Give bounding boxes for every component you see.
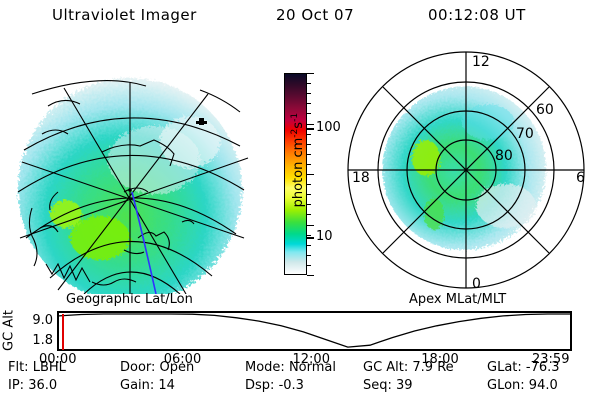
- status-value: 94.0: [529, 378, 558, 393]
- status-label: IP:: [8, 378, 28, 393]
- strip-plot-box[interactable]: [57, 311, 572, 351]
- status-value: -0.3: [279, 378, 304, 393]
- status-label: Seq:: [363, 378, 396, 393]
- mlt-spokes: [348, 52, 584, 288]
- status-field: Flt: LBHL: [8, 360, 66, 375]
- altitude-trace: [59, 313, 570, 349]
- status-label: GC Alt:: [363, 360, 412, 375]
- status-label: Flt:: [8, 360, 33, 375]
- mlat-label-60: 60: [536, 102, 554, 118]
- ytick-high: 9.0: [19, 313, 53, 328]
- status-label: Dsp:: [245, 378, 279, 393]
- status-label: GLon:: [487, 378, 529, 393]
- mlt-label-12: 12: [472, 54, 490, 70]
- geographic-image: [4, 42, 262, 294]
- gcalt-axis-label: GC Alt: [2, 305, 17, 357]
- status-field: Door: Open: [120, 360, 194, 375]
- status-value: 39: [396, 378, 413, 393]
- status-field: Mode: Normal: [245, 360, 336, 375]
- colorbar-axis-label: photon cm-2s-1: [290, 72, 306, 248]
- status-field: Seq: 39: [363, 378, 413, 393]
- altitude-strip-chart[interactable]: GC Alt 9.0 1.8 00:0006:0012:0018:0023:59: [0, 306, 600, 358]
- status-value: -76.3: [526, 360, 560, 375]
- status-value: 36.0: [28, 378, 57, 393]
- header: Ultraviolet Imager 20 Oct 07 00:12:08 UT: [0, 6, 600, 30]
- colorbar-ticks: [307, 73, 315, 275]
- cb-label-main: photon cm: [291, 138, 306, 208]
- status-field: GLon: 94.0: [487, 378, 558, 393]
- mlt-label-18: 18: [352, 170, 370, 186]
- status-field: GLat: -76.3: [487, 360, 560, 375]
- status-label: Mode:: [245, 360, 289, 375]
- mlat-label-80: 80: [495, 148, 513, 164]
- ytick-low: 1.8: [19, 333, 53, 348]
- cb-label-exp1: -2: [290, 129, 300, 138]
- mlt-label-0: 0: [472, 276, 481, 292]
- status-field: Gain: 14: [120, 378, 175, 393]
- cb-label-mid: s: [291, 122, 306, 129]
- geographic-caption: Geographic Lat/Lon: [66, 292, 193, 307]
- status-field: Dsp: -0.3: [245, 378, 304, 393]
- apex-image: 12 18 6 0 60 70 80: [338, 42, 596, 294]
- colorbar-tick-label: 10: [316, 229, 333, 244]
- instrument-title: Ultraviolet Imager: [52, 6, 197, 24]
- status-field: GC Alt: 7.9 Re: [363, 360, 454, 375]
- status-value: LBHL: [33, 360, 66, 375]
- mlat-label-70: 70: [516, 126, 534, 142]
- status-value: 14: [158, 378, 175, 393]
- status-footer: Flt: LBHLDoor: OpenMode: NormalGC Alt: 7…: [0, 360, 600, 400]
- observation-time: 00:12:08 UT: [428, 6, 526, 24]
- pole-marker: [128, 188, 132, 192]
- geographic-panel[interactable]: [4, 42, 262, 294]
- status-value: Normal: [289, 360, 336, 375]
- status-label: Door:: [120, 360, 160, 375]
- observation-date: 20 Oct 07: [276, 6, 354, 24]
- current-time-marker: [62, 314, 64, 350]
- status-value: Open: [160, 360, 195, 375]
- mlt-label-6: 6: [576, 170, 585, 186]
- apex-panel[interactable]: 12 18 6 0 60 70 80: [338, 42, 596, 294]
- status-field: IP: 36.0: [8, 378, 57, 393]
- status-label: Gain:: [120, 378, 158, 393]
- status-value: 7.9 Re: [412, 360, 453, 375]
- apex-caption: Apex MLat/MLT: [409, 292, 506, 307]
- uvi-display: Ultraviolet Imager 20 Oct 07 00:12:08 UT: [0, 0, 600, 400]
- colorbar: photon cm-2s-1 10010: [283, 60, 339, 295]
- cb-label-exp2: -1: [290, 113, 300, 122]
- status-label: GLat:: [487, 360, 526, 375]
